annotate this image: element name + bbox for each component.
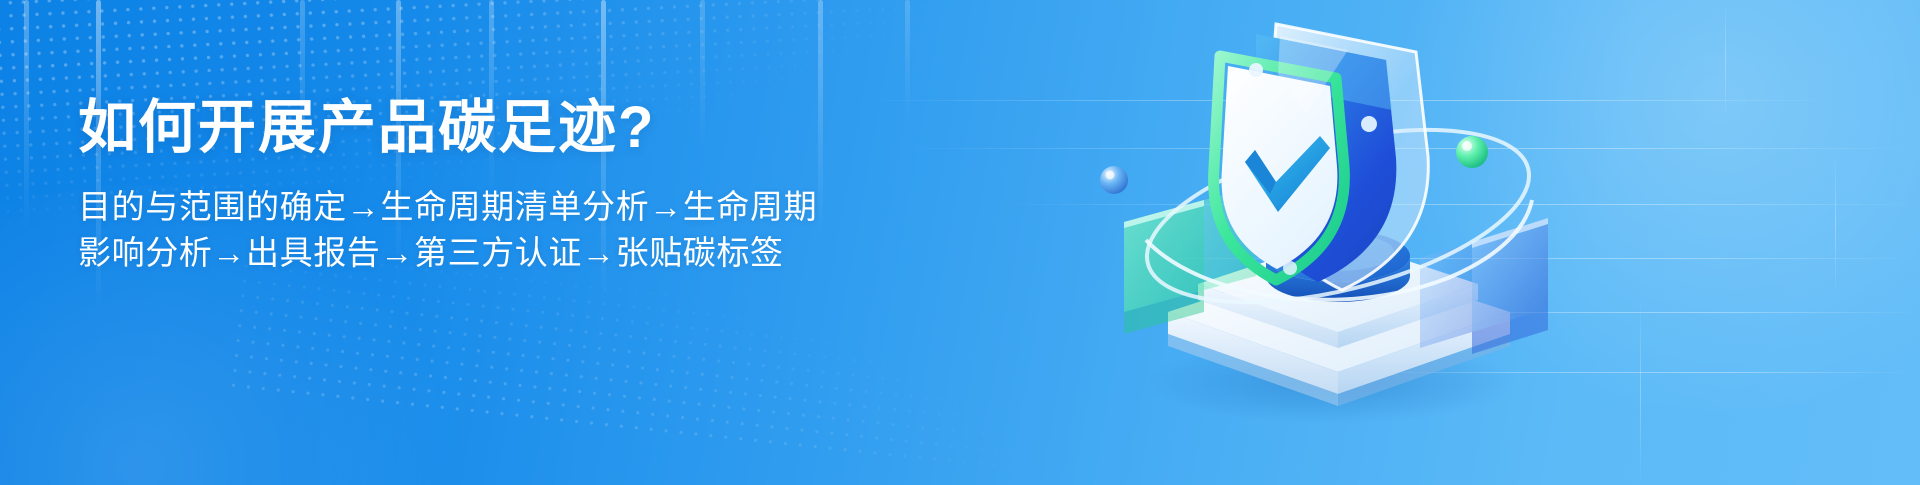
shield-rivet [1283, 261, 1297, 275]
shield-illustration [1080, 0, 1600, 485]
green-sphere-node [1456, 136, 1488, 168]
glass-panel-right [1420, 218, 1548, 354]
light-streak [24, 0, 29, 230]
shield-rivet [1361, 116, 1377, 132]
circuit-line-vertical [1835, 150, 1836, 300]
circuit-line-vertical [1640, 300, 1641, 485]
carbon-footprint-banner: 如何开展产品碳足迹? 目的与范围的确定→生命周期清单分析→生命周期 影响分析→出… [0, 0, 1920, 485]
circuit-line-vertical [1725, 0, 1726, 120]
green-sphere-node-highlight [1462, 141, 1472, 151]
subtitle-line-2: 影响分析→出具报告→第三方认证→张贴碳标签 [78, 230, 998, 276]
page-title: 如何开展产品碳足迹? [78, 96, 998, 160]
blue-sphere-node-highlight [1106, 171, 1115, 180]
shield-rivet [1249, 63, 1263, 77]
banner-text-block: 如何开展产品碳足迹? 目的与范围的确定→生命周期清单分析→生命周期 影响分析→出… [78, 96, 998, 276]
subtitle-line-1: 目的与范围的确定→生命周期清单分析→生命周期 [78, 184, 998, 230]
blue-sphere-node [1100, 166, 1128, 194]
